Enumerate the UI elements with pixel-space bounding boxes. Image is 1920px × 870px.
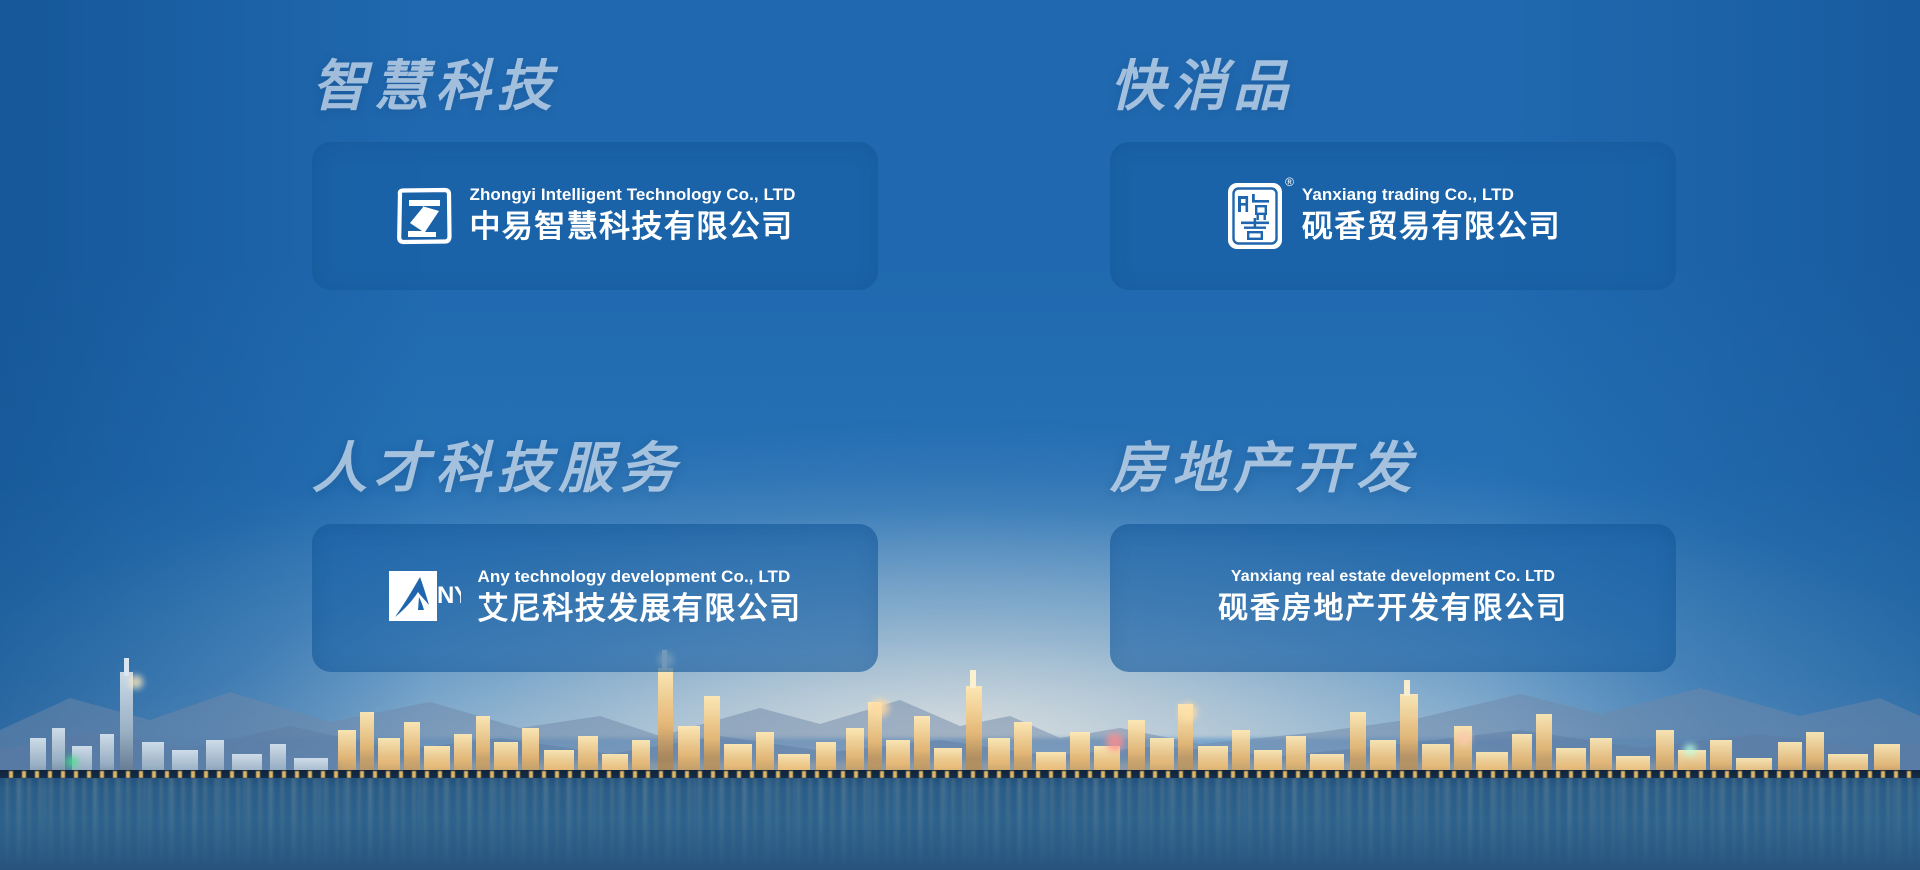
registered-trademark-icon: ® — [1285, 176, 1294, 188]
yanxiang-seal-logo-icon: ® — [1225, 179, 1285, 253]
segment-title-real-estate: 房地产开发 — [1110, 440, 1676, 498]
company-name-en: Yanxiang real estate development Co. LTD — [1218, 567, 1568, 587]
brand-text-yanxiang-real-estate: Yanxiang real estate development Co. LTD… — [1218, 567, 1568, 628]
company-card-yanxiang-trading[interactable]: ® Yanxiang trading Co., LTD 砚香贸易有限公司 — [1110, 142, 1676, 290]
company-name-en: Zhongyi Intelligent Technology Co., LTD — [470, 184, 796, 205]
any-mountain-logo-icon: NY — [389, 569, 461, 627]
svg-text:NY: NY — [437, 582, 461, 609]
segment-smart-technology: 智慧科技 Zhongyi Intelligent Technology Co.,… — [300, 58, 878, 404]
company-name-en: Any technology development Co., LTD — [478, 566, 802, 587]
brand-text-yanxiang-trading: Yanxiang trading Co., LTD 砚香贸易有限公司 — [1302, 184, 1561, 248]
company-card-yanxiang-real-estate[interactable]: Yanxiang real estate development Co. LTD… — [1110, 524, 1676, 672]
company-name-cn: 砚香房地产开发有限公司 — [1218, 589, 1568, 628]
segment-talent-services: 人才科技服务 NY Any technology development Co.… — [300, 404, 878, 750]
company-name-cn: 砚香贸易有限公司 — [1302, 207, 1561, 247]
company-name-en: Yanxiang trading Co., LTD — [1302, 184, 1561, 205]
brand-text-zhongyi: Zhongyi Intelligent Technology Co., LTD … — [470, 184, 796, 248]
zhongyi-z-seal-logo-icon — [395, 187, 453, 245]
segments-grid: 智慧科技 Zhongyi Intelligent Technology Co.,… — [0, 0, 1920, 870]
company-card-any-technology[interactable]: NY Any technology development Co., LTD 艾… — [312, 524, 878, 672]
segment-title-talent-services: 人才科技服务 — [312, 440, 878, 498]
segment-fmcg: 快消品 — [878, 58, 1676, 404]
segment-title-fmcg: 快消品 — [1110, 58, 1676, 116]
segment-real-estate: 房地产开发 Yanxiang real estate development C… — [878, 404, 1676, 750]
company-card-zhongyi[interactable]: Zhongyi Intelligent Technology Co., LTD … — [312, 142, 878, 290]
brand-text-any-technology: Any technology development Co., LTD 艾尼科技… — [478, 566, 802, 630]
company-name-cn: 中易智慧科技有限公司 — [470, 207, 796, 247]
company-name-cn: 艾尼科技发展有限公司 — [478, 589, 802, 629]
segment-title-smart-technology: 智慧科技 — [312, 58, 878, 116]
